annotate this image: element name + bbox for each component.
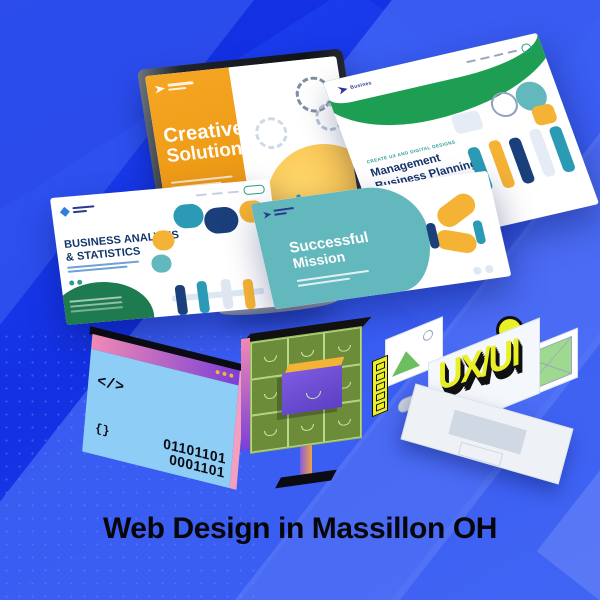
- sun-icon: [423, 328, 433, 342]
- rocket-icon: [435, 228, 477, 254]
- diamond-logo-icon: [59, 206, 70, 217]
- speech-bubble-icon: [203, 206, 240, 235]
- card-logo-label: [72, 205, 95, 215]
- person-figure: [174, 285, 188, 316]
- arrow-logo-icon: [154, 85, 165, 94]
- cabinet-open-drawer[interactable]: [282, 365, 342, 415]
- ux-ui-laptop-mockup: UX/UI: [380, 318, 580, 484]
- nav-cta-pill[interactable]: [243, 184, 265, 195]
- card-nav[interactable]: [195, 184, 265, 199]
- arrow-logo-icon: [263, 211, 273, 219]
- window-traffic-lights[interactable]: [216, 369, 234, 377]
- card-logo: [59, 204, 95, 217]
- person-figure: [242, 279, 256, 310]
- monitor-logo: [154, 78, 224, 94]
- monitor-logo-label: [167, 81, 194, 93]
- page-title: Web Design in Massillon OH: [0, 512, 600, 546]
- cabinet-drawer[interactable]: [251, 411, 288, 453]
- cabinet-side-panel: [241, 338, 250, 451]
- person-figure: [196, 281, 210, 314]
- toolbar-panel[interactable]: [372, 355, 388, 417]
- card-green-blob: [50, 278, 159, 325]
- cabinet-stand: [300, 445, 312, 477]
- poster-canvas: Creative Solutions: [0, 0, 600, 600]
- mountain-icon: [392, 346, 420, 377]
- card-dot-indicators[interactable]: [473, 265, 495, 276]
- person-figure: [220, 279, 234, 310]
- megaphone-icon: [530, 103, 558, 127]
- speech-bubble-icon: [172, 203, 205, 229]
- business-analysis-card: BUSINESS ANALYSIS & STATISTICS: [50, 179, 286, 325]
- code-tag-icon: </>: [97, 373, 125, 397]
- gear-icon: [253, 116, 290, 151]
- file-cabinet-mockup: [250, 326, 362, 454]
- play-bubble-icon: [150, 254, 172, 274]
- code-brace-icon: {}: [95, 421, 110, 438]
